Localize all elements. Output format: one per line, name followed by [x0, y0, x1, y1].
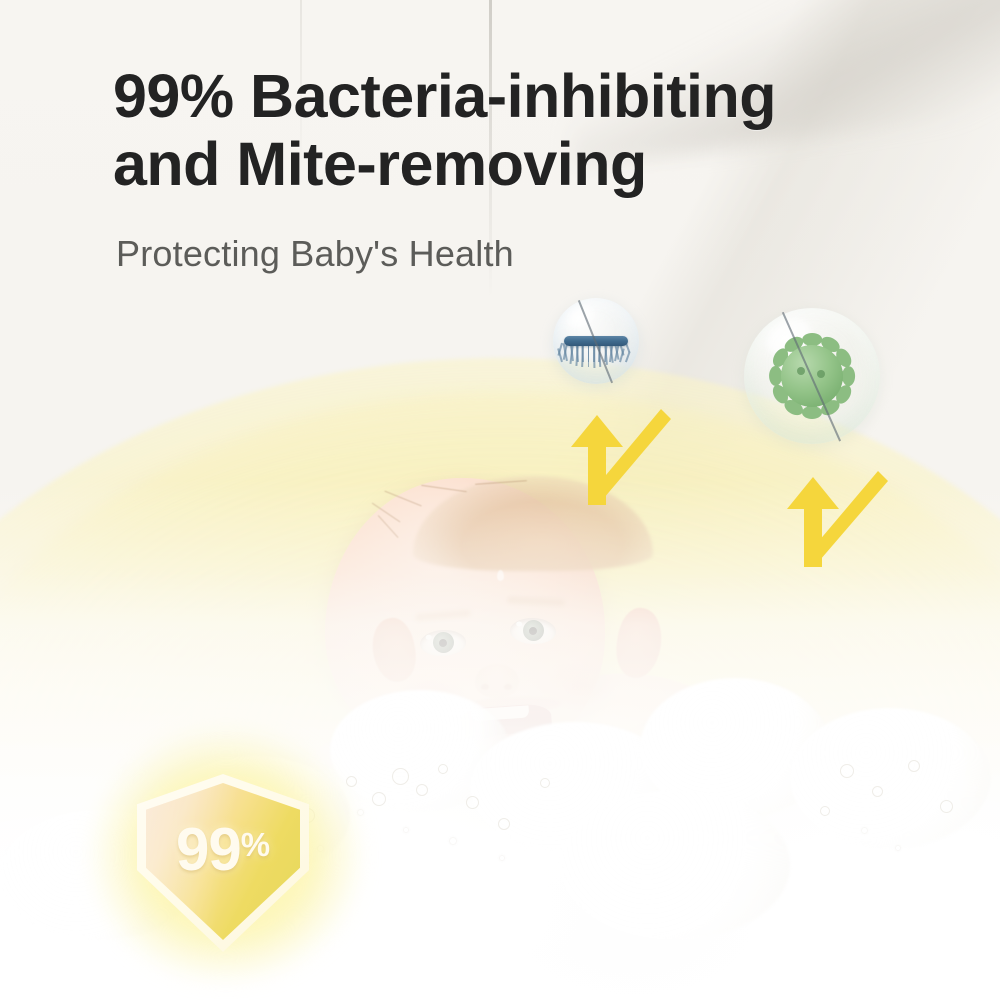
- foam-bubble: [416, 784, 428, 796]
- foam-bubble: [908, 760, 920, 772]
- badge-number: 99: [176, 816, 241, 883]
- foam-bubble: [872, 786, 883, 797]
- foam-bubble: [372, 792, 386, 806]
- bacteria-bubble: [553, 298, 639, 384]
- foam-blob: [790, 708, 990, 848]
- foam-bubble: [466, 796, 479, 809]
- foam-speck: [896, 846, 900, 850]
- foam-bubble: [540, 778, 550, 788]
- page-subtitle: Protecting Baby's Health: [116, 233, 514, 275]
- foam-speck: [862, 828, 867, 833]
- foam-speck: [500, 856, 504, 860]
- foam-speck: [404, 828, 408, 832]
- foam-speck: [358, 810, 363, 815]
- foam-bubble: [498, 818, 510, 830]
- page-title: 99% Bacteria-inhibiting and Mite-removin…: [113, 62, 953, 198]
- foam-bubble: [392, 768, 409, 785]
- foam-blob: [560, 790, 790, 940]
- shield-icon: 99%: [137, 774, 309, 952]
- escape-arrow-right: [778, 465, 900, 573]
- escape-arrow-left: [563, 405, 683, 510]
- badge-percent-symbol: %: [241, 826, 270, 863]
- guarantee-badge: 99%: [98, 742, 348, 964]
- product-feature-poster: 99% 99% Bacteria-inhibiting and Mite-rem…: [0, 0, 1000, 1000]
- foam-speck: [450, 838, 456, 844]
- foam-bubble: [438, 764, 448, 774]
- foam-bubble: [820, 806, 830, 816]
- bacteria-cilia-bottom: [558, 343, 634, 384]
- mite-bubble: [744, 308, 880, 444]
- badge-value: 99%: [137, 820, 309, 880]
- headline-line-2: and Mite-removing: [113, 130, 953, 198]
- foam-bubble: [840, 764, 854, 778]
- foam-bubble: [940, 800, 953, 813]
- headline-line-1: 99% Bacteria-inhibiting: [113, 62, 953, 130]
